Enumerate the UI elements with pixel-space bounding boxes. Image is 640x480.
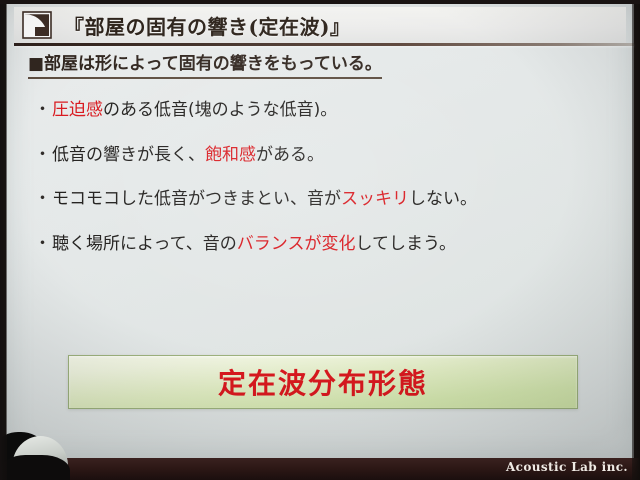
photo-edge-top: [0, 0, 640, 4]
photo-edge-right: [632, 0, 640, 480]
bullet-segment-highlight: 圧迫感: [52, 100, 103, 120]
arc-logo-icon: [22, 11, 52, 39]
emphasis-box: 定在波分布形態: [68, 355, 578, 409]
photo-edge-left: [0, 0, 7, 480]
slide-title-bar: 『部屋の固有の響き(定在波)』: [14, 7, 626, 43]
bullet-segment-plain: しない。: [409, 189, 477, 209]
bullet-segment-plain: 聴く場所によって、音の: [52, 234, 237, 254]
section-heading: ■部屋は形によって固有の響きをもっている。: [28, 49, 382, 79]
footer-band: Acoustic Lab inc.: [0, 458, 640, 480]
bullet-segment-highlight: バランスが変化: [237, 234, 356, 254]
page-title: 『部屋の固有の響き(定在波)』: [64, 11, 350, 40]
bullet-marker: ・: [34, 234, 51, 254]
bullet-segment-plain: してしまう。: [355, 234, 455, 254]
bullet-segment-highlight: 飽和感: [205, 145, 256, 165]
bullet-segment-plain: モコモコした低音がつきまとい、音が: [52, 189, 341, 209]
list-item: ・モコモコした低音がつきまとい、音がスッキリしない。: [34, 190, 634, 209]
bullet-segment-plain: のある低音(塊のような低音)。: [103, 100, 337, 120]
projected-slide-photo: 『部屋の固有の響き(定在波)』 ■部屋は形によって固有の響きをもっている。 ・圧…: [0, 0, 640, 480]
footer-credit: Acoustic Lab inc.: [506, 460, 628, 474]
title-divider: [14, 43, 634, 46]
foreground-object-shadow: [0, 455, 70, 480]
bullet-marker: ・: [34, 145, 51, 165]
bullet-list: ・圧迫感のある低音(塊のような低音)。 ・低音の響きが長く、飽和感がある。 ・モ…: [6, 101, 634, 254]
bullet-segment-plain: 低音の響きが長く、: [52, 145, 205, 165]
bullet-marker: ・: [34, 100, 51, 120]
bullet-segment-plain: がある。: [256, 145, 324, 165]
bullet-marker: ・: [34, 189, 51, 209]
list-item: ・聴く場所によって、音のバランスが変化してしまう。: [34, 235, 634, 254]
emphasis-box-label: 定在波分布形態: [218, 362, 428, 402]
list-item: ・圧迫感のある低音(塊のような低音)。: [34, 101, 634, 120]
slide-surface: 『部屋の固有の響き(定在波)』 ■部屋は形によって固有の響きをもっている。 ・圧…: [6, 3, 634, 458]
slide-content: ■部屋は形によって固有の響きをもっている。 ・圧迫感のある低音(塊のような低音)…: [6, 49, 634, 280]
list-item: ・低音の響きが長く、飽和感がある。: [34, 146, 634, 165]
bullet-segment-highlight: スッキリ: [341, 189, 409, 209]
